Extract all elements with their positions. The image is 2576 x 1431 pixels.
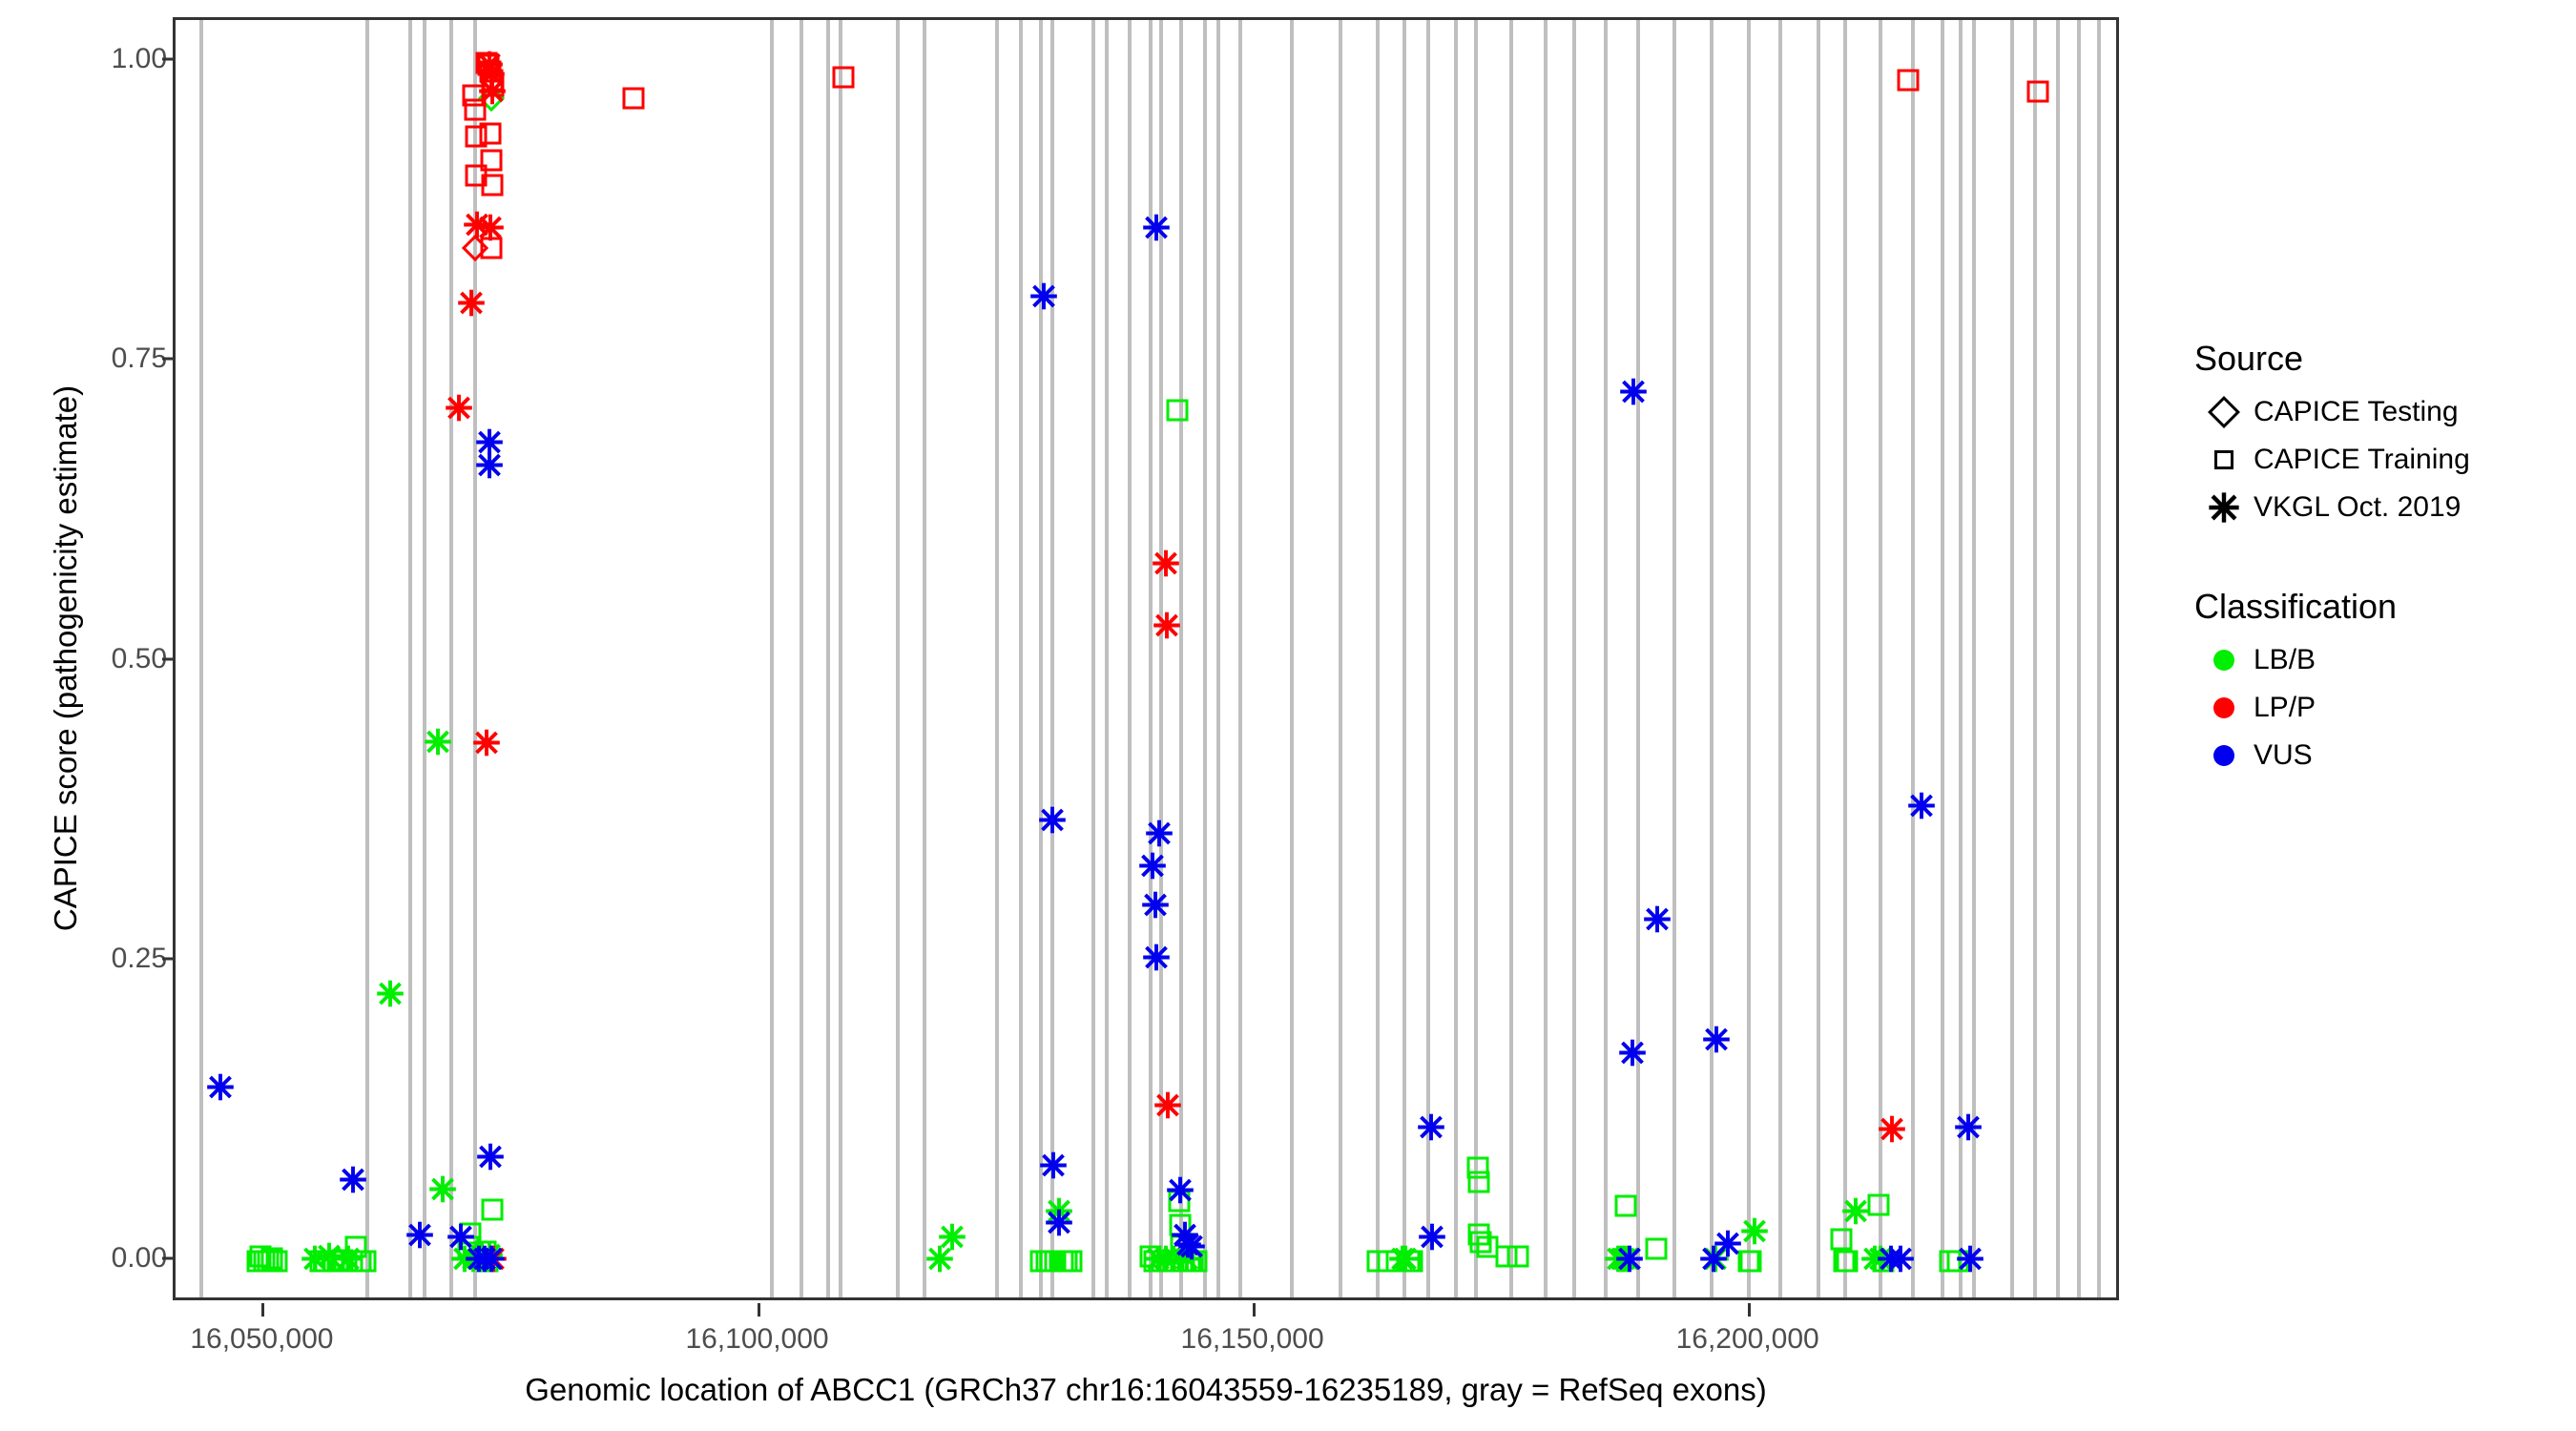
data-point-asterisk bbox=[424, 728, 452, 761]
legend-label: VKGL Oct. 2019 bbox=[2254, 491, 2461, 524]
exon-band bbox=[1039, 20, 1043, 1297]
exon-band bbox=[1091, 20, 1095, 1297]
exon-band bbox=[1216, 20, 1220, 1297]
data-point-square bbox=[257, 1251, 279, 1273]
y-tick-label: 0.00 bbox=[33, 1242, 167, 1275]
data-point-asterisk bbox=[1142, 213, 1171, 246]
data-point-square bbox=[1377, 1251, 1399, 1273]
data-point-square bbox=[314, 1251, 336, 1273]
legend-label: CAPICE Testing bbox=[2254, 396, 2459, 428]
x-tick-label: 16,150,000 bbox=[1110, 1323, 1396, 1356]
data-point-square bbox=[1060, 1251, 1082, 1273]
data-point-square bbox=[1646, 1238, 1668, 1260]
data-point-square bbox=[323, 1251, 345, 1273]
exon-band bbox=[1941, 20, 1944, 1297]
data-point-asterisk bbox=[477, 1245, 506, 1278]
data-point-asterisk bbox=[475, 427, 504, 461]
data-point-square bbox=[309, 1251, 331, 1273]
data-point-asterisk bbox=[1860, 1245, 1889, 1278]
exon-band bbox=[1050, 20, 1054, 1297]
exon-band bbox=[473, 20, 477, 1297]
data-point-asterisk bbox=[464, 1245, 492, 1278]
data-point-square bbox=[1467, 1156, 1489, 1178]
data-point-square bbox=[265, 1251, 287, 1273]
data-point-square bbox=[1897, 69, 1919, 91]
data-point-asterisk bbox=[376, 980, 405, 1013]
exon-band bbox=[1179, 20, 1183, 1297]
legend-color-rows: LB/BLP/PVUS bbox=[2194, 636, 2576, 779]
data-point-asterisk bbox=[1029, 281, 1058, 315]
legend-group-source: Source CAPICE TestingCAPICE TrainingVKGL… bbox=[2194, 339, 2576, 531]
data-point-asterisk bbox=[315, 1242, 343, 1275]
exon-band bbox=[1474, 20, 1478, 1297]
legend-label: LP/P bbox=[2254, 692, 2316, 724]
exon-band bbox=[896, 20, 900, 1297]
data-point-square bbox=[477, 1251, 499, 1273]
data-point-square bbox=[480, 61, 502, 83]
exon-band bbox=[1911, 20, 1915, 1297]
data-point-asterisk bbox=[938, 1223, 966, 1256]
exon-band bbox=[1203, 20, 1207, 1297]
data-point-square bbox=[1166, 399, 1188, 421]
exon-band bbox=[365, 20, 369, 1297]
exon-band bbox=[1402, 20, 1406, 1297]
legend-label: CAPICE Training bbox=[2254, 444, 2470, 476]
x-tick-mark bbox=[1253, 1303, 1256, 1317]
data-point-asterisk bbox=[1153, 1091, 1182, 1125]
exon-band bbox=[1426, 20, 1430, 1297]
data-point-asterisk bbox=[475, 51, 504, 84]
data-point-asterisk bbox=[1643, 905, 1672, 939]
data-point-asterisk bbox=[475, 1241, 504, 1275]
exon-band bbox=[1843, 20, 1847, 1297]
data-point-square bbox=[482, 69, 504, 91]
data-point-asterisk bbox=[1045, 1209, 1073, 1242]
data-point-asterisk bbox=[1152, 549, 1180, 582]
legend-item-classification[interactable]: VUS bbox=[2194, 732, 2576, 779]
data-point-square bbox=[1056, 1251, 1078, 1273]
exon-band bbox=[1817, 20, 1820, 1297]
data-point-asterisk bbox=[1152, 1245, 1180, 1278]
data-point-square bbox=[1946, 1251, 1968, 1273]
exon-band bbox=[2056, 20, 2060, 1297]
exon-band bbox=[449, 20, 453, 1297]
data-point-asterisk bbox=[1171, 1220, 1199, 1254]
exon-band bbox=[1972, 20, 1976, 1297]
square-icon bbox=[2194, 450, 2254, 469]
data-point-square bbox=[1872, 1251, 1894, 1273]
data-point-square bbox=[260, 1248, 282, 1270]
x-tick-mark bbox=[758, 1303, 760, 1317]
x-tick-label: 16,200,000 bbox=[1605, 1323, 1891, 1356]
legend-title-source: Source bbox=[2194, 339, 2576, 379]
exon-band bbox=[1376, 20, 1380, 1297]
exon-band bbox=[1710, 20, 1714, 1297]
data-point-square bbox=[478, 53, 500, 75]
exon-band bbox=[408, 20, 412, 1297]
y-tick-mark bbox=[162, 57, 173, 60]
exon-band bbox=[1339, 20, 1342, 1297]
data-point-square bbox=[482, 175, 504, 197]
exon-band bbox=[1509, 20, 1513, 1297]
data-point-asterisk bbox=[1619, 378, 1648, 411]
y-tick-label: 1.00 bbox=[33, 43, 167, 75]
exon-band bbox=[1019, 20, 1023, 1297]
exon-band bbox=[1105, 20, 1109, 1297]
x-tick-label: 16,050,000 bbox=[118, 1323, 405, 1356]
exon-band bbox=[1778, 20, 1782, 1297]
data-point-asterisk bbox=[457, 289, 486, 322]
diamond-icon bbox=[2194, 401, 2254, 424]
y-tick-mark bbox=[162, 657, 173, 660]
data-point-square bbox=[1398, 1251, 1420, 1273]
data-point-square bbox=[481, 150, 503, 172]
data-point-asterisk bbox=[1142, 944, 1171, 977]
data-point-asterisk bbox=[1159, 1245, 1188, 1278]
legend-label: VUS bbox=[2254, 739, 2313, 772]
exon-band bbox=[199, 20, 203, 1297]
exon-band bbox=[1879, 20, 1882, 1297]
exon-band bbox=[2077, 20, 2081, 1297]
color-dot-icon bbox=[2194, 745, 2254, 766]
exon-band bbox=[1290, 20, 1294, 1297]
data-point-square bbox=[254, 1251, 276, 1273]
data-point-asterisk bbox=[477, 60, 506, 93]
data-point-square bbox=[475, 52, 497, 74]
y-tick-mark bbox=[162, 957, 173, 960]
data-point-square bbox=[1496, 1245, 1518, 1267]
exon-band bbox=[1238, 20, 1242, 1297]
data-point-diamond bbox=[478, 85, 505, 112]
data-point-square bbox=[1052, 1251, 1074, 1273]
exon-band bbox=[1544, 20, 1548, 1297]
data-point-asterisk bbox=[479, 1245, 508, 1278]
chart-root: CAPICE score (pathogenicity estimate) 0.… bbox=[0, 0, 2576, 1431]
legend-item-source[interactable]: CAPICE Training bbox=[2194, 436, 2576, 484]
legend-item-classification[interactable]: LP/P bbox=[2194, 684, 2576, 732]
y-tick-label: 0.50 bbox=[33, 643, 167, 675]
exon-band bbox=[923, 20, 926, 1297]
data-point-asterisk bbox=[339, 1166, 367, 1199]
data-point-asterisk bbox=[1141, 891, 1170, 924]
data-point-asterisk bbox=[428, 1175, 457, 1209]
data-point-square bbox=[332, 1249, 354, 1271]
data-point-square bbox=[1739, 1251, 1761, 1273]
data-point-square bbox=[460, 1223, 482, 1245]
data-point-square bbox=[1173, 1251, 1195, 1273]
y-tick-label: 0.25 bbox=[33, 943, 167, 975]
exon-band bbox=[1747, 20, 1751, 1297]
x-tick-mark bbox=[261, 1303, 264, 1317]
data-point-asterisk bbox=[206, 1073, 235, 1107]
data-point-asterisk bbox=[1418, 1223, 1446, 1256]
legend-title-classification: Classification bbox=[2194, 587, 2576, 627]
asterisk-icon bbox=[2194, 491, 2254, 524]
y-tick-label: 0.75 bbox=[33, 342, 167, 375]
data-point-asterisk bbox=[476, 1143, 505, 1176]
y-tick-mark bbox=[162, 358, 173, 361]
y-tick-mark bbox=[162, 1257, 173, 1260]
exon-band bbox=[423, 20, 426, 1297]
data-point-asterisk bbox=[465, 1245, 493, 1278]
data-point-square bbox=[327, 1251, 349, 1273]
data-point-asterisk bbox=[467, 1242, 496, 1275]
data-point-asterisk bbox=[475, 450, 504, 484]
data-point-square bbox=[832, 67, 854, 89]
exon-band bbox=[770, 20, 774, 1297]
exon-band bbox=[1572, 20, 1576, 1297]
exon-band bbox=[1959, 20, 1963, 1297]
exon-band bbox=[1604, 20, 1608, 1297]
exon-band bbox=[1159, 20, 1163, 1297]
data-point-square bbox=[1476, 1235, 1498, 1257]
color-dot-icon bbox=[2194, 650, 2254, 671]
data-point-asterisk bbox=[1699, 1245, 1728, 1278]
data-point-asterisk bbox=[1417, 1112, 1445, 1146]
data-point-square bbox=[1614, 1195, 1636, 1217]
plot-area bbox=[176, 20, 2116, 1297]
data-point-square bbox=[1182, 1251, 1204, 1273]
data-point-asterisk bbox=[1740, 1217, 1769, 1251]
data-point-asterisk bbox=[1153, 612, 1181, 645]
exon-band bbox=[1149, 20, 1153, 1297]
legend-item-classification[interactable]: LB/B bbox=[2194, 636, 2576, 684]
legend-label: LB/B bbox=[2254, 644, 2316, 676]
x-tick-mark bbox=[1748, 1303, 1751, 1317]
exon-band bbox=[2010, 20, 2014, 1297]
exon-band bbox=[2033, 20, 2037, 1297]
color-dot-icon bbox=[2194, 697, 2254, 718]
data-point-square bbox=[341, 1251, 363, 1273]
data-point-square bbox=[344, 1235, 366, 1257]
data-point-square bbox=[1044, 1251, 1066, 1273]
data-point-square bbox=[1468, 1224, 1490, 1246]
legend-item-source[interactable]: CAPICE Testing bbox=[2194, 388, 2576, 436]
legend-item-source[interactable]: VKGL Oct. 2019 bbox=[2194, 484, 2576, 531]
data-point-asterisk bbox=[478, 76, 507, 110]
x-tick-label: 16,100,000 bbox=[614, 1323, 901, 1356]
data-point-asterisk bbox=[1045, 1196, 1073, 1230]
exon-band bbox=[1128, 20, 1132, 1297]
data-point-square bbox=[480, 123, 502, 145]
data-point-square bbox=[481, 237, 503, 259]
data-point-asterisk bbox=[334, 1245, 363, 1278]
data-point-asterisk bbox=[1701, 1245, 1730, 1278]
data-point-asterisk bbox=[925, 1245, 954, 1278]
exon-band bbox=[995, 20, 999, 1297]
exon-band bbox=[1636, 20, 1640, 1297]
data-point-square bbox=[2026, 81, 2048, 103]
x-axis-title: Genomic location of ABCC1 (GRCh37 chr16:… bbox=[173, 1372, 2119, 1408]
legend: Source CAPICE TestingCAPICE TrainingVKGL… bbox=[2194, 339, 2576, 835]
data-point-square bbox=[474, 1240, 496, 1262]
exon-band bbox=[826, 20, 830, 1297]
data-point-asterisk bbox=[1608, 1245, 1636, 1278]
data-point-square bbox=[250, 1245, 272, 1267]
legend-group-classification: Classification LB/BLP/PVUS bbox=[2194, 587, 2576, 779]
data-point-asterisk bbox=[301, 1245, 329, 1278]
data-point-square bbox=[1468, 1172, 1490, 1193]
data-point-asterisk bbox=[1702, 1025, 1731, 1058]
data-point-asterisk bbox=[1618, 1038, 1647, 1071]
data-point-asterisk bbox=[476, 213, 505, 246]
data-point-square bbox=[622, 87, 644, 109]
data-point-square bbox=[247, 1251, 269, 1273]
data-point-square bbox=[483, 75, 505, 97]
legend-shape-rows: CAPICE TestingCAPICE TrainingVKGL Oct. 2… bbox=[2194, 388, 2576, 531]
data-point-square bbox=[1831, 1229, 1853, 1251]
data-point-asterisk bbox=[1174, 1230, 1202, 1263]
exon-band bbox=[1454, 20, 1458, 1297]
plot-panel bbox=[173, 17, 2119, 1300]
data-point-asterisk bbox=[463, 211, 491, 244]
exon-band bbox=[2097, 20, 2101, 1297]
data-point-asterisk bbox=[1173, 1245, 1201, 1278]
data-point-asterisk bbox=[1714, 1229, 1742, 1262]
exon-band bbox=[1672, 20, 1676, 1297]
exon-band bbox=[800, 20, 803, 1297]
data-point-square bbox=[1837, 1251, 1859, 1273]
data-point-square bbox=[482, 1198, 504, 1220]
exon-band bbox=[839, 20, 842, 1297]
data-point-asterisk bbox=[1610, 1245, 1638, 1278]
